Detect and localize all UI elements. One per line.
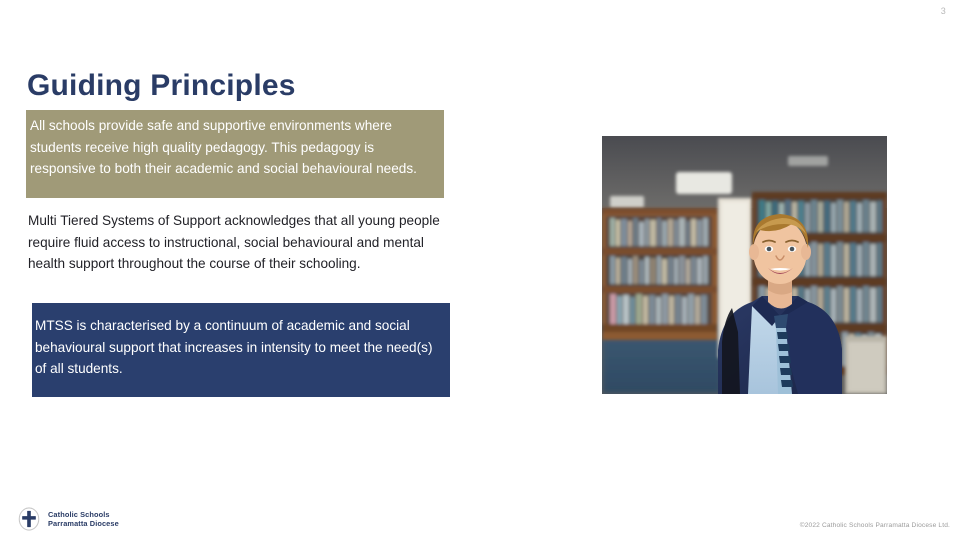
organisation-logo: Catholic Schools Parramatta Diocese (16, 506, 119, 532)
logo-line-2: Parramatta Diocese (48, 519, 119, 529)
page-title: Guiding Principles (27, 66, 296, 106)
slide: 3 Guiding Principles All schools provide… (0, 0, 960, 540)
logo-line-1: Catholic Schools (48, 510, 119, 520)
student-photo (602, 136, 887, 394)
copyright-notice: ©2022 Catholic Schools Parramatta Dioces… (800, 522, 950, 529)
callout-box-khaki: All schools provide safe and supportive … (26, 110, 444, 198)
student-photo-illustration (602, 136, 887, 394)
callout-khaki-text: All schools provide safe and supportive … (30, 115, 438, 180)
paragraph-block: Multi Tiered Systems of Support acknowle… (28, 210, 448, 275)
callout-navy-text: MTSS is characterised by a continuum of … (35, 315, 442, 380)
page-number: 3 (941, 6, 946, 16)
cross-emblem-icon (16, 506, 42, 532)
callout-box-navy: MTSS is characterised by a continuum of … (32, 303, 450, 397)
logo-wordmark: Catholic Schools Parramatta Diocese (48, 510, 119, 529)
paragraph-text: Multi Tiered Systems of Support acknowle… (28, 210, 448, 275)
